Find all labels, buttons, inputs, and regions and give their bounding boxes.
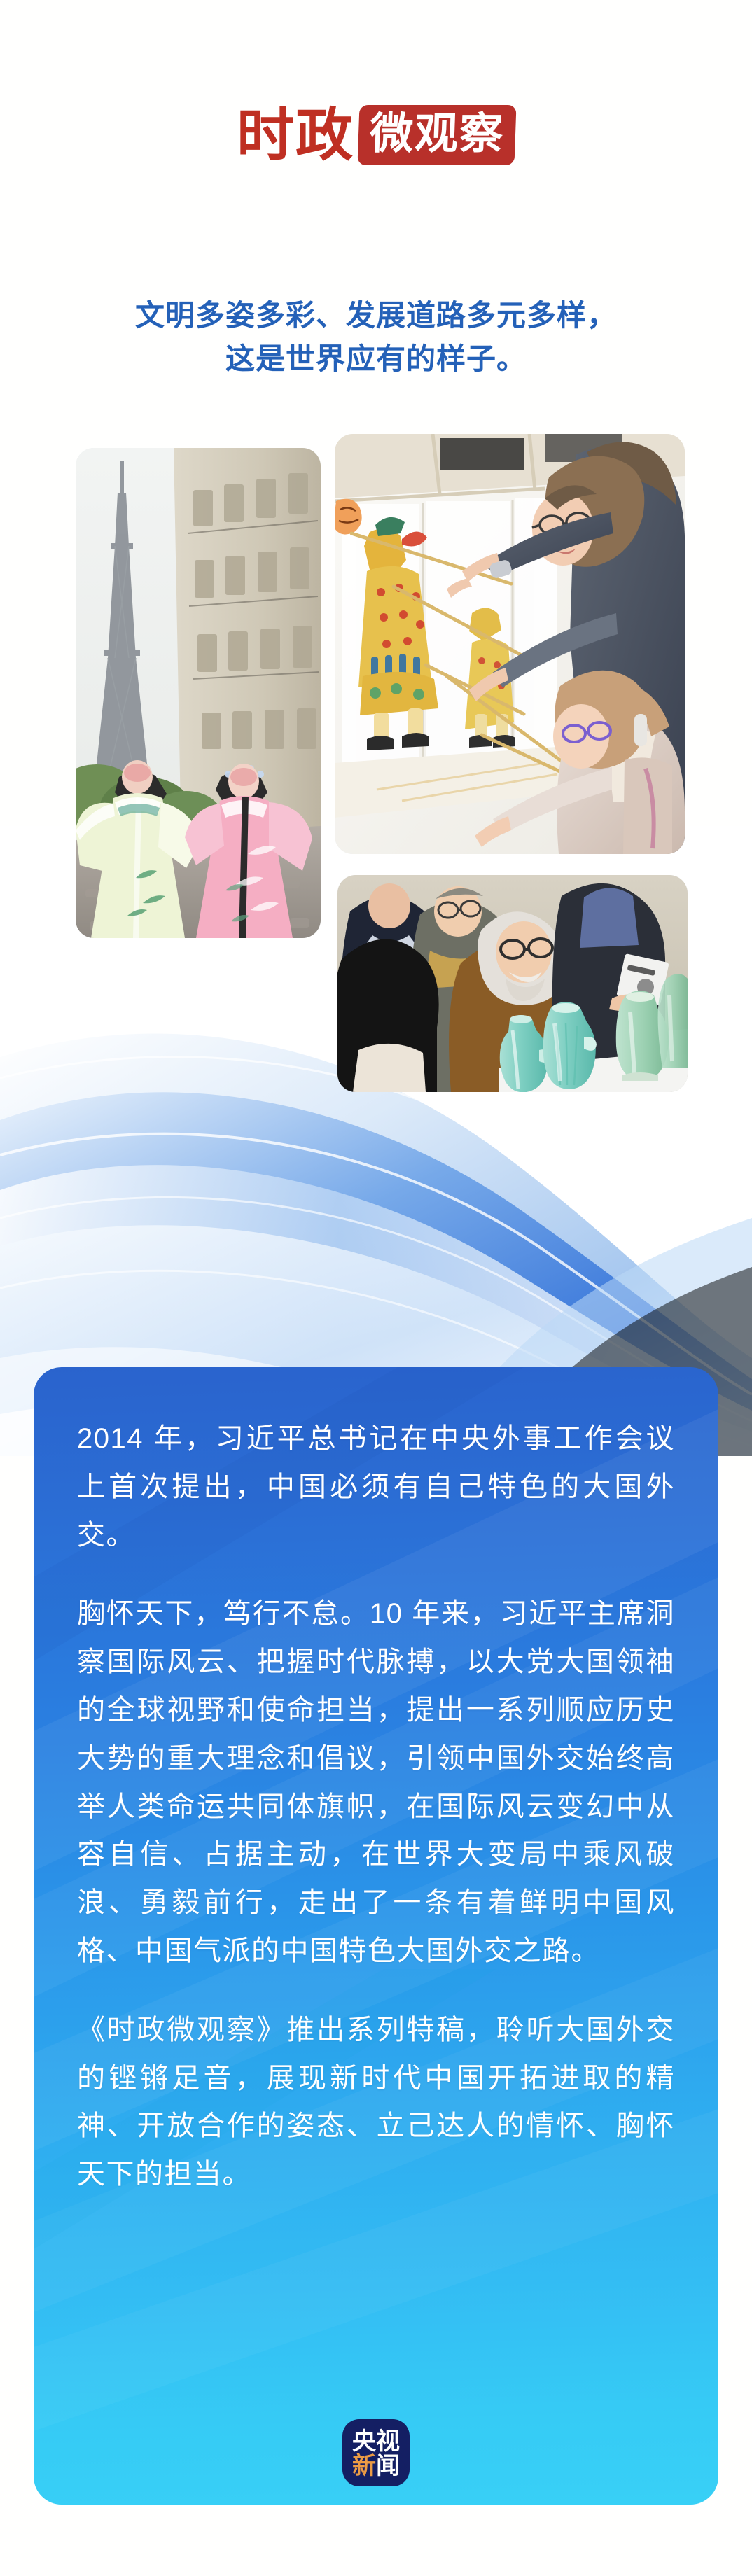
brand-lockup: 时政 微观察	[237, 105, 515, 165]
photo-shadow-puppet	[335, 434, 685, 854]
brand-title: 时政 微观察	[0, 105, 752, 165]
photo-opera-eiffel	[76, 448, 321, 938]
article-paragraph-3: 《时政微观察》推出系列特稿，聆听大国外交的铿锵足音，展现新时代中国开拓进取的精神…	[77, 2006, 675, 2199]
brand-name-badge: 微观察	[357, 105, 516, 165]
subtitle-line-1: 文明多姿多彩、发展道路多元多样，	[0, 294, 752, 337]
photo-collage	[0, 434, 752, 1106]
article-card: 2014 年，习近平总书记在中央外事工作会议上首次提出，中国必须有自己特色的大国…	[34, 1367, 718, 2505]
photo-celadon-exhibit	[337, 875, 688, 1092]
poster-page: 时政 微观察 文明多姿多彩、发展道路多元多样， 这是世界应有的样子。	[0, 0, 752, 2576]
poster-subtitle: 文明多姿多彩、发展道路多元多样， 这是世界应有的样子。	[0, 294, 752, 381]
article-body: 2014 年，习近平总书记在中央外事工作会议上首次提出，中国必须有自己特色的大国…	[34, 1367, 718, 2199]
logo-line-2: 新闻	[342, 2454, 410, 2478]
cctv-news-logo: 央视 新闻	[342, 2419, 410, 2486]
article-paragraph-2: 胸怀天下，笃行不怠。10 年来，习近平主席洞察国际风云、把握时代脉搏，以大党大国…	[77, 1590, 675, 1975]
logo-line-2-char-2: 闻	[376, 2452, 400, 2480]
article-paragraph-1: 2014 年，习近平总书记在中央外事工作会议上首次提出，中国必须有自己特色的大国…	[77, 1415, 675, 1559]
footer: 央视 新闻	[0, 2419, 752, 2490]
logo-line-2-char-1: 新	[352, 2452, 376, 2480]
logo-line-1: 央视	[342, 2430, 410, 2453]
subtitle-line-2: 这是世界应有的样子。	[0, 337, 752, 381]
brand-name-main: 时政	[237, 106, 354, 164]
